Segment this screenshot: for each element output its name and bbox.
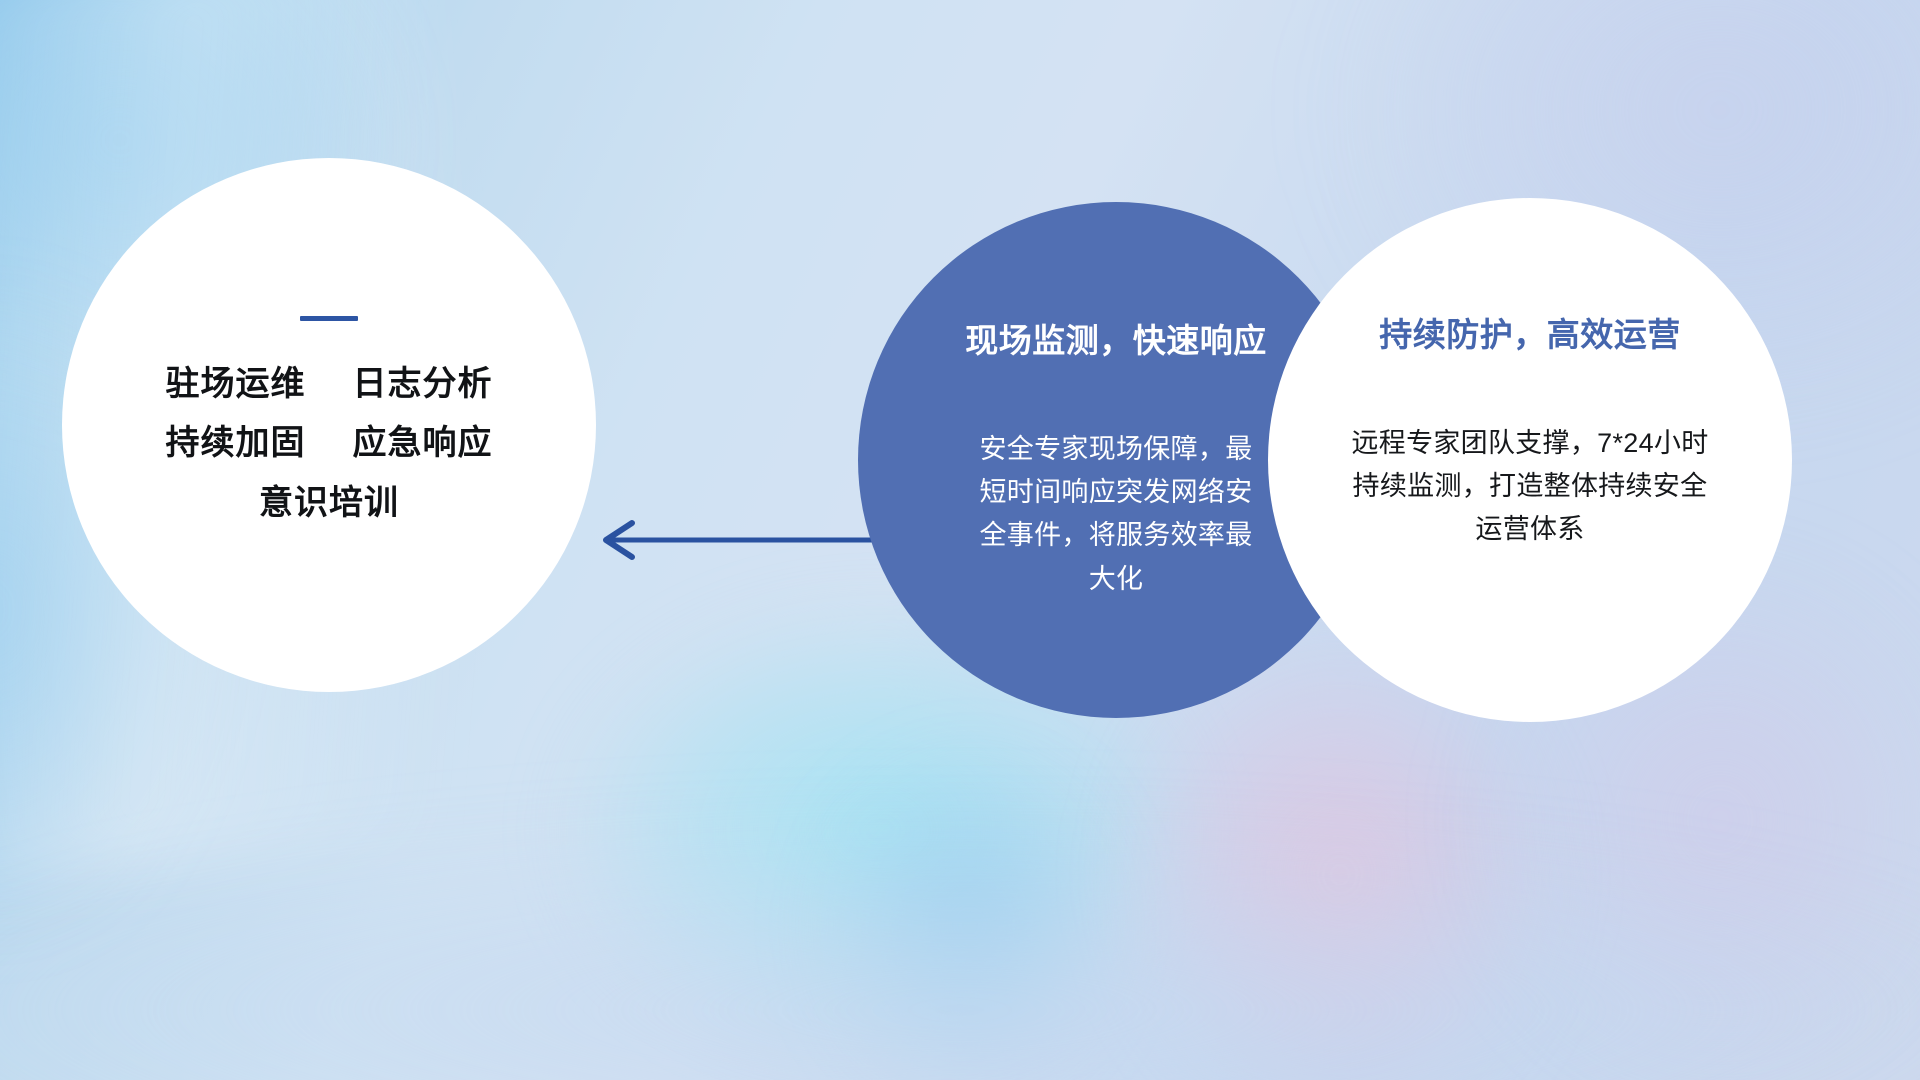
connector-arrow-icon [580, 510, 900, 570]
left-capability-circle[interactable]: 驻场运维 日志分析 持续加固 应急响应 意识培训 [62, 158, 596, 692]
capability-item-yishipeixun: 意识培训 [259, 484, 399, 522]
capability-item-rizhifenxi: 日志分析 [352, 365, 492, 403]
middle-circle-body: 安全专家现场保障，最短时间响应突发网络安全事件，将服务效率最大化 [966, 428, 1266, 601]
capability-list: 驻场运维 日志分析 持续加固 应急响应 意识培训 [166, 365, 493, 523]
middle-circle-title: 现场监测，快速响应 [965, 314, 1267, 362]
right-service-circle[interactable]: 持续防护，高效运营 远程专家团队支撑，7*24小时持续监测，打造整体持续安全运营… [1268, 198, 1792, 722]
capability-row-2: 持续加固 应急响应 [166, 424, 493, 463]
right-circle-title: 持续防护，高效运营 [1379, 308, 1681, 356]
right-circle-body: 远程专家团队支撑，7*24小时持续监测，打造整体持续安全运营体系 [1347, 422, 1713, 552]
capability-row-3: 意识培训 [259, 484, 399, 523]
slide-canvas: 驻场运维 日志分析 持续加固 应急响应 意识培训 现场监测，快速响应 安全专家现… [0, 0, 1920, 1080]
capability-item-chixujiagu: 持续加固 [166, 424, 306, 462]
capability-item-zhuchangyunwei: 驻场运维 [166, 365, 306, 403]
capability-row-1: 驻场运维 日志分析 [166, 365, 493, 404]
capability-item-yingjixiangying: 应急响应 [352, 424, 492, 462]
divider-dash-icon [300, 316, 358, 321]
